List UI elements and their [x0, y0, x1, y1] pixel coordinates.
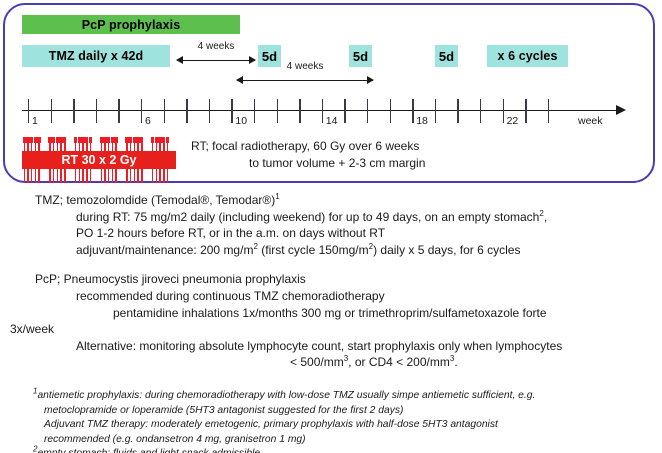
tmz-six-cycles-box: x 6 cycles: [487, 45, 568, 67]
rt-fraction-cap: [166, 137, 169, 143]
interval-arrow-a-label: 4 weeks: [177, 41, 255, 52]
axis-tick: [390, 99, 391, 123]
tmz-adjuvant-line: adjuvant/maintenance: 200 mg/m2 (first c…: [0, 242, 662, 259]
rt-fraction-cap: [114, 137, 117, 143]
tmz-po-line: PO 1-2 hours before RT, or in the a.m. o…: [0, 225, 662, 242]
treatment-schedule-figure: PcP prophylaxis TMZ daily x 42d 5d 5d 5d…: [0, 0, 662, 453]
footnote-1-line-1-text: antiemetic prophylaxis: during chemoradi…: [37, 390, 535, 401]
axis-tick-label: 22: [507, 115, 519, 127]
rt-dose-bar: RT 30 x 2 Gy: [22, 151, 176, 169]
axis-tick-label: 10: [235, 115, 247, 127]
tmz-heading-text: TMZ; temozolomdide (Temodal®, Temodar®): [35, 193, 275, 207]
axis-tick: [480, 99, 481, 123]
interval-arrow-b-line: [237, 80, 373, 81]
axis-tick-label: 14: [326, 115, 338, 127]
rt-desc-line-2: to tumor volume + 2-3 cm margin: [191, 155, 571, 172]
pcp-threshold-b: , or CD4 < 200/mm: [348, 355, 450, 369]
week-axis: 1610141822 week: [22, 93, 634, 129]
axis-tick: [299, 99, 300, 123]
axis-tick: [322, 99, 323, 123]
axis-tick: [118, 99, 119, 123]
notes-section: TMZ; temozolomdide (Temodal®, Temodar®)1…: [0, 192, 662, 371]
interval-arrow-b-label: 4 weeks: [237, 61, 373, 72]
arrow-head-left-icon: [236, 76, 243, 84]
pcp-threshold-a: < 500/mm: [290, 355, 344, 369]
axis-unit-label: week: [578, 115, 603, 127]
radiotherapy-description: RT; focal radiotherapy, 60 Gy over 6 wee…: [191, 138, 571, 172]
footnote-1-line-3: Adjuvant TMZ therapy: moderately emetoge…: [0, 418, 662, 433]
pcp-pentamidine-line: pentamidine inhalations 1x/months 300 mg…: [0, 305, 662, 322]
axis-tick: [73, 99, 74, 123]
axis-tick-label: 1: [32, 115, 38, 127]
axis-tick: [164, 99, 165, 123]
notes-spacer: [0, 258, 662, 271]
pcp-threshold-line: < 500/mm3, or CD4 < 200/mm3.: [0, 354, 662, 371]
footnote-1-line-1: 1antiemetic prophylaxis: during chemorad…: [0, 389, 662, 404]
rt-fraction-cap: [63, 137, 66, 143]
tmz-daily-bar: TMZ daily x 42d: [22, 45, 170, 67]
tmz-during-rt-text: during RT: 75 mg/m2 daily (including wee…: [76, 210, 539, 224]
axis-tick: [457, 99, 458, 123]
footnote-2-line-1-text: empty stomach: fluids and light snack ad…: [37, 448, 260, 453]
arrow-head-left-icon: [176, 56, 183, 64]
axis-tick: [186, 99, 187, 123]
diagram-panel: PcP prophylaxis TMZ daily x 42d 5d 5d 5d…: [3, 3, 655, 183]
radiotherapy-block: RT 30 x 2 Gy: [22, 137, 176, 183]
tmz-cycle-3-box: 5d: [435, 45, 458, 67]
pcp-alternative-line: Alternative: monitoring absolute lymphoc…: [0, 338, 662, 355]
axis-tick: [412, 99, 413, 123]
tmz-during-rt-tail: ,: [544, 210, 547, 224]
axis-tick-label: 18: [416, 115, 428, 127]
tmz-adjuvant-b: (first cycle 150mg/m: [258, 243, 369, 257]
axis-tick: [525, 99, 526, 123]
rt-fraction-cap: [140, 137, 143, 143]
axis-tick: [254, 99, 255, 123]
pcp-threshold-c: .: [454, 355, 457, 369]
footnote-1-line-4: recommended (e.g. ondansetron 4 mg, gran…: [0, 433, 662, 448]
axis-tick: [344, 99, 345, 123]
arrow-head-right-icon: [367, 76, 374, 84]
axis-tick-label: 6: [145, 115, 151, 127]
tmz-during-rt-line: during RT: 75 mg/m2 daily (including wee…: [0, 209, 662, 226]
rt-fraction-cap: [37, 137, 40, 143]
pcp-heading: PcP; Pneumocystis jiroveci pneumonia pro…: [0, 271, 662, 288]
pcp-recommended-line: recommended during continuous TMZ chemor…: [0, 288, 662, 305]
axis-arrow-icon: [616, 105, 626, 115]
axis-tick: [277, 99, 278, 123]
axis-tick: [367, 99, 368, 123]
pcp-frequency-line: 3x/week: [0, 321, 662, 338]
axis-tick: [51, 99, 52, 123]
pcp-prophylaxis-bar: PcP prophylaxis: [22, 15, 240, 34]
tmz-heading-footnote-marker: 1: [275, 192, 279, 201]
rt-fraction-cap: [89, 137, 92, 143]
footnote-2-line-1: 2empty stomach: fluids and light snack a…: [0, 447, 662, 453]
axis-line: [22, 110, 619, 111]
rt-desc-line-1: RT; focal radiotherapy, 60 Gy over 6 wee…: [191, 138, 571, 155]
axis-tick: [435, 99, 436, 123]
axis-tick: [141, 99, 142, 123]
axis-tick: [28, 99, 29, 123]
axis-tick: [209, 99, 210, 123]
interval-arrow-b: 4 weeks: [237, 65, 373, 87]
tmz-heading: TMZ; temozolomdide (Temodal®, Temodar®)1: [0, 192, 662, 209]
footnotes-section: 1antiemetic prophylaxis: during chemorad…: [0, 389, 662, 453]
footnote-1-line-2: metoclopramide or loperamide (5HT3 antag…: [0, 404, 662, 419]
axis-tick: [231, 99, 232, 123]
tmz-adjuvant-a: adjuvant/maintenance: 200 mg/m: [76, 243, 253, 257]
axis-tick: [548, 99, 549, 123]
axis-tick: [96, 99, 97, 123]
axis-tick: [503, 99, 504, 123]
tmz-adjuvant-c: ) daily x 5 days, for 6 cycles: [373, 243, 520, 257]
